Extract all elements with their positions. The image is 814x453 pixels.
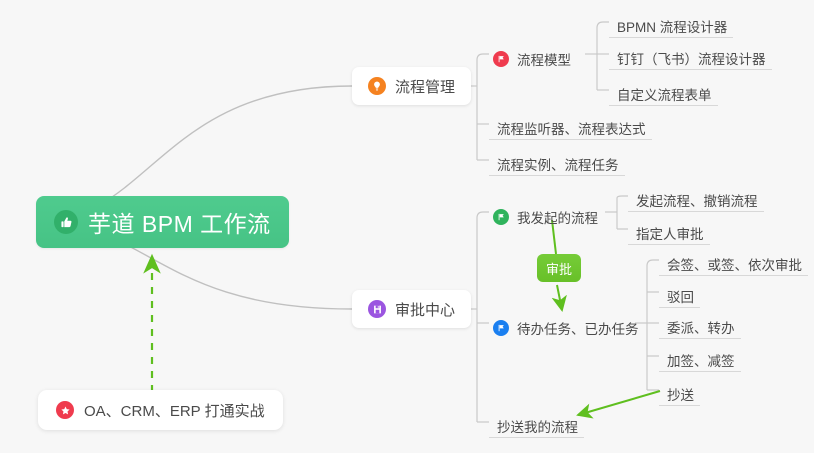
leaf-add-remove-sign[interactable]: 加签、减签 [659, 342, 741, 372]
node-label: 我发起的流程 [517, 212, 598, 226]
leaf-reject[interactable]: 驳回 [659, 278, 700, 308]
leaf-label: 委派、转办 [667, 322, 735, 336]
node-label: 流程模型 [517, 54, 571, 68]
document-icon [368, 300, 386, 318]
root-label: 芋道 BPM 工作流 [88, 205, 271, 239]
leaf-cc-to-me[interactable]: 抄送我的流程 [489, 408, 584, 438]
leaf-label: 加签、减签 [667, 355, 735, 369]
leaf-countersign[interactable]: 会签、或签、依次审批 [659, 246, 808, 276]
annotation-integration-callout[interactable]: OA、CRM、ERP 打通实战 [38, 390, 283, 430]
leaf-label: 指定人审批 [636, 228, 704, 242]
node-my-initiated[interactable]: 我发起的流程 [489, 198, 604, 228]
callout-label: OA、CRM、ERP 打通实战 [84, 400, 265, 421]
leaf-label: 流程监听器、流程表达式 [497, 123, 646, 137]
flag-icon [493, 320, 509, 336]
leaf-label: 自定义流程表单 [617, 89, 712, 103]
leaf-dingtalk-designer[interactable]: 钉钉（飞书）流程设计器 [609, 40, 772, 70]
root-node[interactable]: 芋道 BPM 工作流 [36, 196, 289, 248]
node-label: 待办任务、已办任务 [517, 323, 639, 337]
flag-icon [493, 209, 509, 225]
leaf-start-cancel-process[interactable]: 发起流程、撤销流程 [628, 182, 764, 212]
leaf-custom-form[interactable]: 自定义流程表单 [609, 76, 718, 106]
leaf-delegate-transfer[interactable]: 委派、转办 [659, 309, 741, 339]
leaf-process-instance[interactable]: 流程实例、流程任务 [489, 146, 625, 176]
leaf-cc[interactable]: 抄送 [659, 376, 700, 406]
node-todo-done-tasks[interactable]: 待办任务、已办任务 [489, 309, 645, 339]
leaf-label: 钉钉（飞书）流程设计器 [617, 53, 766, 67]
mindmap-canvas: 芋道 BPM 工作流 流程管理 流程模型 BPMN 流程设计器 钉钉（飞书）流程… [0, 0, 814, 453]
branch-label: 审批中心 [395, 299, 455, 320]
badge-label: 审批 [546, 259, 572, 278]
star-icon [56, 401, 74, 419]
leaf-bpmn-designer[interactable]: BPMN 流程设计器 [609, 8, 733, 38]
leaf-label: 会签、或签、依次审批 [667, 259, 802, 273]
branch-approval-center[interactable]: 审批中心 [352, 290, 471, 328]
lightbulb-icon [368, 77, 386, 95]
leaf-label: 发起流程、撤销流程 [636, 195, 758, 209]
thumbs-up-icon [54, 210, 78, 234]
annotation-approval-badge: 审批 [537, 254, 581, 282]
leaf-label: BPMN 流程设计器 [617, 21, 727, 35]
leaf-assignee-approval[interactable]: 指定人审批 [628, 215, 710, 245]
leaf-label: 流程实例、流程任务 [497, 159, 619, 173]
leaf-label: 抄送 [667, 389, 694, 403]
leaf-label: 驳回 [667, 291, 694, 305]
leaf-process-listener[interactable]: 流程监听器、流程表达式 [489, 110, 652, 140]
branch-label: 流程管理 [395, 76, 455, 97]
leaf-label: 抄送我的流程 [497, 421, 578, 435]
node-process-model[interactable]: 流程模型 [489, 40, 577, 70]
branch-process-management[interactable]: 流程管理 [352, 67, 471, 105]
flag-icon [493, 51, 509, 67]
